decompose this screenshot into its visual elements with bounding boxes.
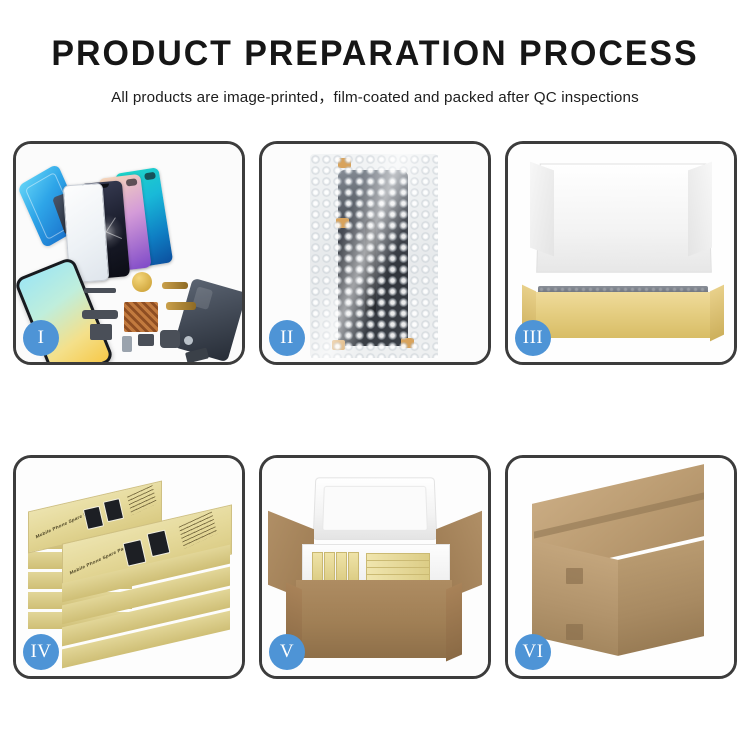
panel-step-4: Mobile Phone Spare Parts Mobile Phone Sp… bbox=[13, 455, 245, 679]
box-artwork-phone-2 bbox=[147, 530, 171, 558]
box-lid-flap-left bbox=[530, 162, 554, 257]
step-badge-5: V bbox=[269, 634, 305, 670]
part-earpiece-mesh bbox=[84, 288, 116, 293]
part-screw bbox=[184, 336, 193, 345]
panel-step-6: VI bbox=[505, 455, 737, 679]
kraft-box-tray bbox=[530, 292, 716, 338]
step-badge-3: III bbox=[515, 320, 551, 356]
carton-flap-tab-upper bbox=[566, 568, 583, 584]
panel-step-1: I bbox=[13, 141, 245, 365]
carton-body bbox=[296, 580, 452, 658]
step-badge-4: IV bbox=[23, 634, 59, 670]
carton-flap-tab-lower bbox=[566, 624, 583, 640]
page-subtitle: All products are image-printed，film-coat… bbox=[0, 85, 750, 107]
part-connector-strip bbox=[82, 310, 118, 319]
part-antenna bbox=[185, 348, 209, 362]
box-spec-lines bbox=[179, 512, 218, 549]
bubble-texture bbox=[310, 154, 438, 358]
spare-parts-group bbox=[78, 272, 218, 362]
bubble-wrap-pouch bbox=[310, 154, 438, 358]
box-spec-lines bbox=[127, 485, 157, 515]
carton-side-face bbox=[618, 540, 704, 656]
part-logic-board bbox=[124, 302, 158, 332]
camera-icon bbox=[144, 172, 156, 181]
panel-step-3: III bbox=[505, 141, 737, 365]
part-sim-tray bbox=[122, 336, 132, 352]
camera-icon bbox=[126, 178, 138, 186]
panel-step-5: V bbox=[259, 455, 491, 679]
part-flex-cable-2 bbox=[166, 302, 196, 310]
step-badge-6: VI bbox=[515, 634, 551, 670]
box-artwork-phone-2 bbox=[103, 498, 124, 522]
part-vibrator bbox=[138, 334, 154, 346]
box-stack: Mobile Phone Spare Parts Mobile Phone Sp… bbox=[28, 480, 234, 666]
header: PRODUCT PREPARATION PROCESS All products… bbox=[0, 0, 750, 107]
box-artwork-phone-1 bbox=[83, 506, 104, 530]
part-camera-module bbox=[160, 330, 180, 348]
panel-step-2: II bbox=[259, 141, 491, 365]
part-flex-cable-1 bbox=[162, 282, 188, 289]
step-badge-2: II bbox=[269, 320, 305, 356]
part-bracket bbox=[90, 324, 112, 340]
foam-lid bbox=[313, 477, 438, 540]
box-lid-flap-right bbox=[688, 162, 712, 257]
page-title: PRODUCT PREPARATION PROCESS bbox=[11, 36, 739, 71]
step-badge-1: I bbox=[23, 320, 59, 356]
process-panel-grid: I II bbox=[13, 141, 737, 679]
box-lid-back-panel bbox=[536, 164, 712, 273]
part-speaker-coil bbox=[132, 272, 152, 292]
box-artwork-phone-1 bbox=[123, 539, 147, 567]
